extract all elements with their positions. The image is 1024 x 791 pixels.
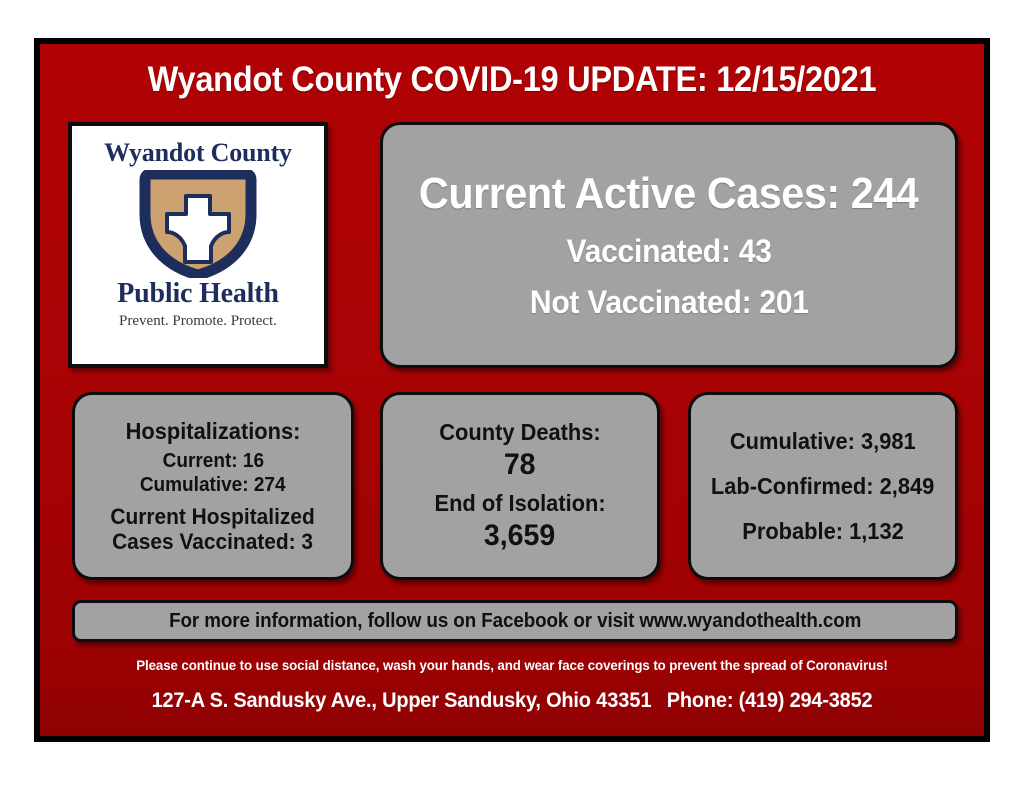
logo-tagline: Prevent. Promote. Protect. — [119, 313, 277, 330]
footer-street-city-state: 127-A S. Sandusky Ave., Upper Sandusky, … — [152, 689, 597, 712]
county-deaths-value: 78 — [504, 448, 536, 482]
active-cases-not-vaccinated: Not Vaccinated: 201 — [530, 284, 809, 321]
end-of-isolation-value: 3,659 — [484, 519, 555, 553]
hospitalized-vaccinated: Current Hospitalized Cases Vaccinated: 3 — [111, 504, 315, 555]
poster-body: Wyandot County COVID-19 UPDATE: 12/15/20… — [40, 44, 984, 736]
footer-address-line: 127-A S. Sandusky Ave., Upper Sandusky, … — [64, 689, 961, 713]
hospitalized-vaccinated-line2: Cases Vaccinated: 3 — [111, 529, 315, 554]
hospitalizations-cumulative: Cumulative: 274 — [140, 473, 286, 497]
cumulative-cases-panel: Cumulative: 3,981 Lab-Confirmed: 2,849 P… — [688, 392, 958, 580]
agency-logo: Wyandot County Public Health Prevent. Pr… — [68, 122, 328, 368]
hospitalizations-title: Hospitalizations: — [126, 418, 301, 445]
covid-update-poster: Wyandot County COVID-19 UPDATE: 12/15/20… — [34, 38, 990, 742]
active-cases-headline: Current Active Cases: 244 — [419, 169, 918, 219]
logo-bottom-text: Public Health — [117, 280, 279, 308]
cumulative-probable: Probable: 1,132 — [742, 518, 904, 545]
cumulative-lab-confirmed: Lab-Confirmed: 2,849 — [711, 473, 934, 500]
cumulative-total: Cumulative: 3,981 — [730, 428, 916, 455]
deaths-isolation-panel: County Deaths: 78 End of Isolation: 3,65… — [380, 392, 660, 580]
end-of-isolation-label: End of Isolation: — [434, 490, 605, 517]
page-title: Wyandot County COVID-19 UPDATE: 12/15/20… — [73, 60, 951, 100]
hospitalized-vaccinated-line1: Current Hospitalized — [111, 504, 315, 529]
active-cases-vaccinated: Vaccinated: 43 — [566, 233, 771, 270]
more-information-text: For more information, follow us on Faceb… — [169, 610, 861, 633]
footer-phone: Phone: (419) 294-3852 — [667, 689, 873, 712]
hospitalizations-current: Current: 16 — [162, 449, 263, 473]
more-information-bar[interactable]: For more information, follow us on Faceb… — [72, 600, 958, 642]
hospitalizations-panel: Hospitalizations: Current: 16 Cumulative… — [72, 392, 354, 580]
footer-zip: 43351 — [596, 689, 651, 712]
active-cases-panel: Current Active Cases: 244 Vaccinated: 43… — [380, 122, 958, 368]
footer-warning-text: Please continue to use social distance, … — [64, 657, 961, 673]
county-deaths-label: County Deaths: — [439, 419, 600, 446]
logo-top-text: Wyandot County — [104, 138, 292, 168]
shield-cross-icon — [139, 170, 257, 278]
